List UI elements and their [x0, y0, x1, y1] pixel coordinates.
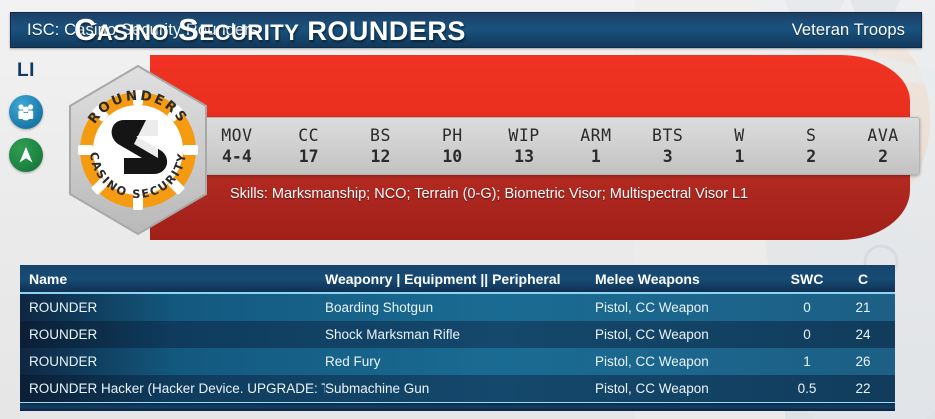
table-row[interactable]: ROUNDER Shock Marksman Rifle Pistol, CC …: [20, 321, 895, 348]
stat-bar: MOV 4-4 CC 17 BS 12 PH 10 WIP 13 ARM 1 B…: [200, 117, 920, 175]
cell-melee: Pistol, CC Weapon: [595, 300, 773, 315]
cell-cost: 26: [841, 354, 891, 369]
title-right: Veteran Troops: [792, 21, 905, 40]
stat-value: 2: [775, 147, 847, 166]
stat-value: 13: [488, 147, 560, 166]
sidebar: LI: [0, 60, 52, 200]
cell-weaponry: Shock Marksman Rifle: [325, 327, 595, 342]
stat-value: 1: [704, 147, 776, 166]
unit-name-title: Casino Security ROUNDERS: [74, 12, 466, 48]
stat-ava: AVA 2: [847, 126, 919, 166]
table-header-row: Name Weaponry | Equipment || Peripheral …: [20, 265, 895, 294]
cell-weaponry: Boarding Shotgun: [325, 300, 595, 315]
stat-value: 2: [847, 147, 919, 166]
cell-name: ROUNDER: [20, 327, 325, 342]
stat-wip: WIP 13: [488, 126, 560, 166]
header-c: C: [841, 271, 891, 287]
header-weaponry: Weaponry | Equipment || Peripheral: [325, 271, 595, 287]
cell-melee: Pistol, CC Weapon: [595, 381, 773, 396]
stat-key: S: [775, 126, 847, 145]
stat-key: CC: [273, 126, 345, 145]
stat-bs: BS 12: [345, 126, 417, 166]
cell-cost: 21: [841, 300, 891, 315]
stat-value: 17: [273, 147, 345, 166]
stat-key: BS: [345, 126, 417, 145]
stat-value: 1: [560, 147, 632, 166]
stat-key: BTS: [632, 126, 704, 145]
banner-red-top: [150, 55, 910, 117]
faction-logo: ROUNDERS CASINO SECURITY: [62, 62, 214, 238]
banner-red-bottom: [150, 173, 910, 240]
unit-name-caps: ROUNDERS: [299, 16, 466, 46]
stat-arm: ARM 1: [560, 126, 632, 166]
cell-cost: 22: [841, 381, 891, 396]
table-footer-bar: [20, 402, 895, 411]
cell-name: ROUNDER: [20, 354, 325, 369]
stat-value: 3: [632, 147, 704, 166]
table-row[interactable]: ROUNDER Boarding Shotgun Pistol, CC Weap…: [20, 294, 895, 321]
troop-group-glyph: [15, 101, 37, 123]
cell-weaponry: Submachine Gun: [325, 381, 595, 396]
stat-value: 12: [345, 147, 417, 166]
cell-swc: 1: [773, 354, 841, 369]
cell-cost: 24: [841, 327, 891, 342]
unit-profile-card: ISC: Casino Security Rounders Veteran Tr…: [0, 0, 935, 419]
stat-s: S 2: [775, 126, 847, 166]
move-icon[interactable]: [9, 138, 43, 172]
troops-icon[interactable]: [9, 95, 43, 129]
cell-swc: 0: [773, 300, 841, 315]
header-swc: SWC: [773, 271, 841, 287]
cell-melee: Pistol, CC Weapon: [595, 327, 773, 342]
profile-table: Name Weaponry | Equipment || Peripheral …: [20, 265, 895, 411]
stat-key: WIP: [488, 126, 560, 145]
header-name: Name: [20, 271, 325, 287]
cell-swc: 0.5: [773, 381, 841, 396]
stat-ph: PH 10: [416, 126, 488, 166]
cell-weaponry: Red Fury: [325, 354, 595, 369]
troop-class-label: LI: [17, 60, 35, 82]
skills-text: Skills: Marksmanship; NCO; Terrain (0-G)…: [230, 186, 748, 202]
cell-name: ROUNDER Hacker (Hacker Device. UPGRADE: …: [20, 381, 325, 396]
cell-name: ROUNDER: [20, 300, 325, 315]
table-row[interactable]: ROUNDER Red Fury Pistol, CC Weapon 1 26: [20, 348, 895, 375]
cell-melee: Pistol, CC Weapon: [595, 354, 773, 369]
cell-swc: 0: [773, 327, 841, 342]
stat-value: 10: [416, 147, 488, 166]
stat-key: ARM: [560, 126, 632, 145]
stat-cc: CC 17: [273, 126, 345, 166]
unit-name-smallcaps: Casino Security: [74, 12, 299, 47]
header-melee: Melee Weapons: [595, 271, 773, 287]
stat-key: W: [704, 126, 776, 145]
stat-key: AVA: [847, 126, 919, 145]
green-arrow-glyph: [16, 145, 36, 165]
table-row[interactable]: ROUNDER Hacker (Hacker Device. UPGRADE: …: [20, 375, 895, 402]
stat-w: W 1: [704, 126, 776, 166]
stat-key: PH: [416, 126, 488, 145]
stat-bts: BTS 3: [632, 126, 704, 166]
